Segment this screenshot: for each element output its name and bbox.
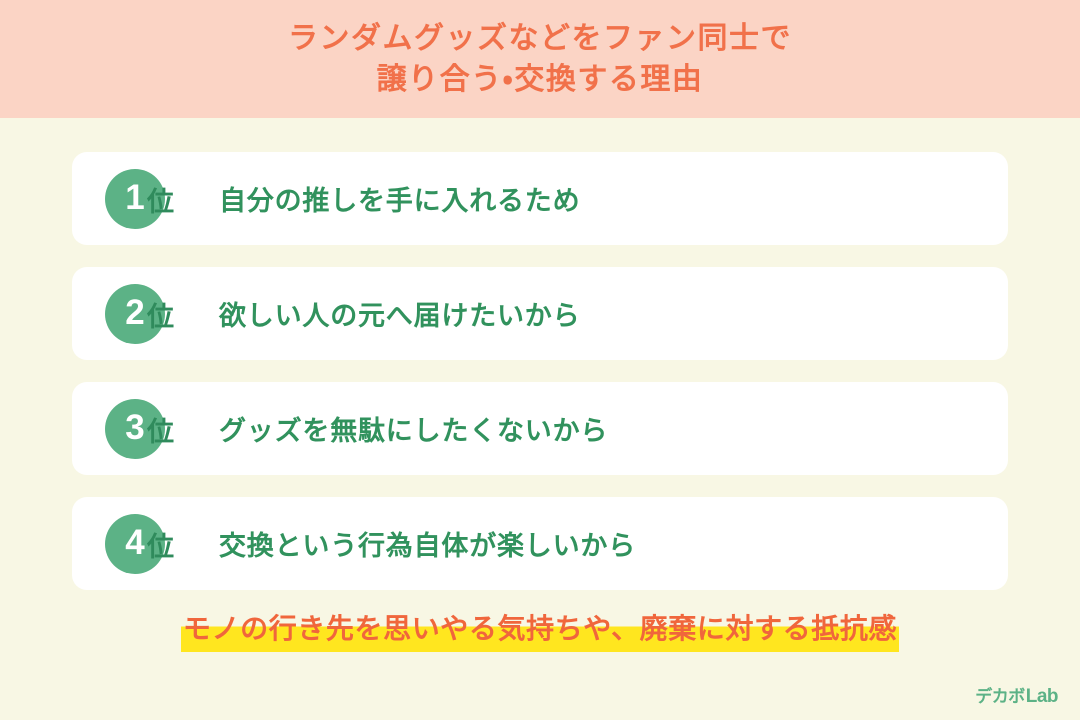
header-title-line-2: 譲り合う・交換する理由 (377, 59, 704, 100)
header-title-line-1: ランダムグッズなどをファン同士で (288, 18, 792, 59)
rank-number-1: 1 (125, 180, 144, 215)
brand-logo-jp: デカボ (975, 688, 1025, 705)
rank-label-2: 欲しい人の元へ届けたいから (219, 294, 580, 333)
rank-card-1: 1 位 自分の推しを手に入れるため (72, 152, 1008, 245)
summary-highlighted-text: モノの行き先を思いやる気持ちや、廃棄に対する抵抗感 (181, 608, 899, 652)
rank-card-4: 4 位 交換という行為自体が楽しいから (72, 497, 1008, 590)
rank-badge-1: 1 位 (105, 169, 215, 229)
rank-card-2: 2 位 欲しい人の元へ届けたいから (72, 267, 1008, 360)
rank-card-3: 3 位 グッズを無駄にしたくないから (72, 382, 1008, 475)
brand-logo-lab: Lab (1026, 687, 1058, 706)
header-banner: ランダムグッズなどをファン同士で 譲り合う・交換する理由 (0, 0, 1080, 118)
rank-suffix-4: 位 (147, 534, 174, 561)
rank-suffix-3: 位 (147, 419, 174, 446)
rank-suffix-1: 位 (147, 189, 174, 216)
rank-label-4: 交換という行為自体が楽しいから (219, 524, 636, 563)
rank-badge-4: 4 位 (105, 514, 215, 574)
rank-number-4: 4 (125, 525, 144, 560)
rank-badge-3: 3 位 (105, 399, 215, 459)
summary-section: モノの行き先を思いやる気持ちや、廃棄に対する抵抗感 (0, 608, 1080, 652)
rank-suffix-2: 位 (147, 304, 174, 331)
rank-badge-2: 2 位 (105, 284, 215, 344)
rank-number-3: 3 (125, 410, 144, 445)
rank-number-2: 2 (125, 295, 144, 330)
rank-label-1: 自分の推しを手に入れるため (219, 179, 580, 218)
brand-logo: デカボ Lab (975, 687, 1058, 706)
ranking-list: 1 位 自分の推しを手に入れるため 2 位 欲しい人の元へ届けたいから 3 位 … (72, 152, 1008, 612)
rank-label-3: グッズを無駄にしたくないから (219, 409, 608, 448)
